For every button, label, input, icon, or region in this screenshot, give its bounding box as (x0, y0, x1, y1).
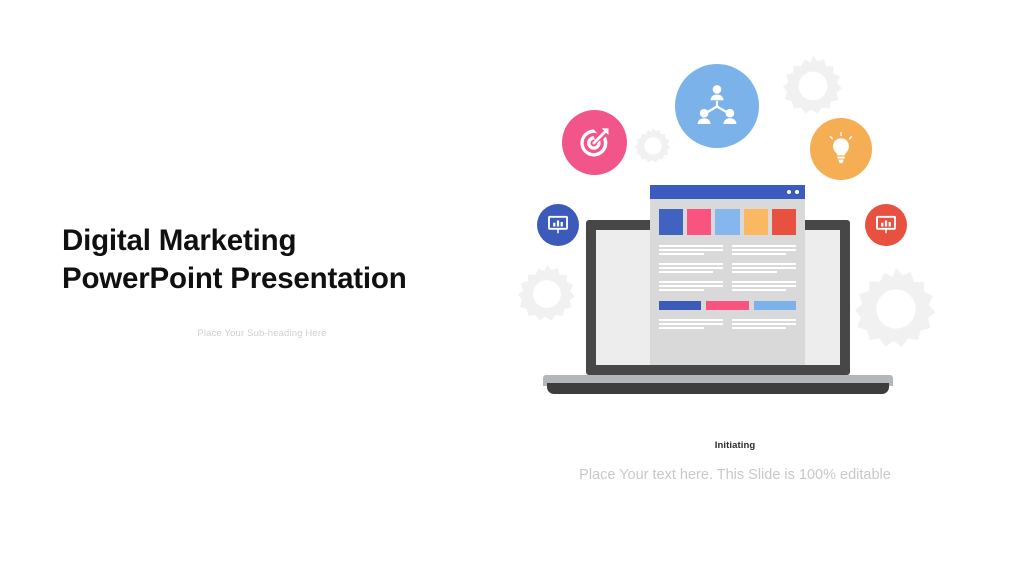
presentation-chart-icon (546, 213, 570, 237)
text-line (732, 267, 796, 269)
text-paragraph (732, 263, 796, 273)
caption-body: Place Your text here. This Slide is 100%… (575, 465, 895, 486)
text-line (659, 323, 723, 325)
text-line (732, 263, 796, 265)
text-line (659, 263, 723, 265)
badge-target (562, 110, 627, 175)
badge-chart-right (865, 204, 907, 246)
color-tile (744, 209, 768, 235)
text-line (659, 267, 723, 269)
badge-chart-left (537, 204, 579, 246)
browser-window (650, 185, 805, 365)
browser-titlebar (650, 185, 805, 199)
subheading-text: Place Your Sub-heading Here (62, 328, 462, 339)
text-line (732, 319, 796, 321)
text-line (732, 289, 786, 291)
title-pane: Digital Marketing PowerPoint Presentatio… (0, 0, 500, 576)
color-tile-row (659, 209, 796, 235)
color-tile (687, 209, 711, 235)
page-title: Digital Marketing PowerPoint Presentatio… (62, 222, 482, 299)
color-tile (715, 209, 739, 235)
text-columns (659, 245, 796, 299)
text-line (659, 249, 723, 251)
text-line (659, 281, 723, 283)
color-bar (706, 301, 748, 310)
text-line (732, 245, 796, 247)
window-dot-icon (795, 190, 799, 194)
text-paragraph (659, 245, 723, 255)
team-network-icon (694, 83, 740, 129)
text-line (732, 271, 777, 273)
presentation-chart-icon (874, 213, 898, 237)
badge-team (675, 64, 759, 148)
badge-idea (810, 118, 872, 180)
text-line (732, 285, 796, 287)
color-tile (659, 209, 683, 235)
text-line (732, 249, 796, 251)
text-line (659, 245, 723, 247)
text-line (659, 289, 704, 291)
text-line (659, 327, 704, 329)
window-dot-icon (787, 190, 791, 194)
color-bar-row (659, 301, 796, 310)
caption-block: Initiating Place Your text here. This Sl… (575, 440, 895, 486)
target-icon (577, 125, 613, 161)
text-paragraph (659, 281, 723, 291)
text-line (732, 323, 796, 325)
text-column (659, 319, 723, 331)
color-bar (659, 301, 701, 310)
text-line (659, 319, 723, 321)
text-line (659, 253, 704, 255)
text-columns-bottom (659, 319, 796, 331)
title-line-2: PowerPoint Presentation (62, 260, 482, 298)
color-bar (754, 301, 796, 310)
text-line (659, 271, 713, 273)
browser-content (650, 199, 805, 331)
gear-icon (783, 56, 843, 116)
color-tile (772, 209, 796, 235)
lightbulb-icon (824, 132, 858, 166)
caption-title: Initiating (575, 440, 895, 451)
slide-canvas: Digital Marketing PowerPoint Presentatio… (0, 0, 1024, 576)
gear-icon (635, 128, 671, 164)
text-line (732, 327, 786, 329)
text-column (659, 245, 723, 299)
text-column (732, 245, 796, 299)
title-line-1: Digital Marketing (62, 222, 482, 260)
text-line (659, 285, 723, 287)
text-paragraph (732, 281, 796, 291)
text-column (732, 319, 796, 331)
text-line (732, 281, 796, 283)
text-paragraph (732, 245, 796, 255)
text-line (732, 253, 786, 255)
laptop-base (547, 383, 889, 394)
text-paragraph (659, 263, 723, 273)
illustration (505, 40, 965, 460)
